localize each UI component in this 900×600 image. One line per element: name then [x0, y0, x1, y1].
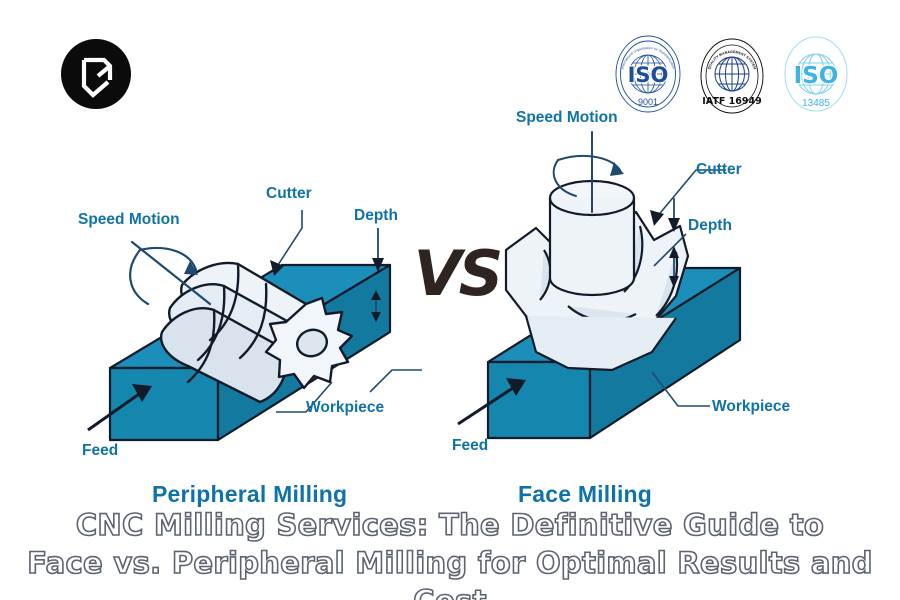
- caption-peripheral-milling: Peripheral Milling: [152, 481, 347, 508]
- caption-face-milling: Face Milling: [518, 481, 652, 508]
- diagram-peripheral-milling: Speed Motion Cutter Depth Workpiece: [70, 100, 450, 470]
- vs-separator: VS: [412, 238, 502, 310]
- label-speed-motion: Speed Motion: [516, 109, 618, 126]
- label-feed: Feed: [82, 442, 118, 459]
- label-workpiece: Workpiece: [712, 398, 790, 415]
- label-depth: Depth: [688, 217, 732, 234]
- diagram-face-milling: Speed Motion Cutter Depth Workpiece: [440, 100, 860, 470]
- page-title-line-2: Face vs. Peripheral Milling for Optimal …: [0, 544, 900, 600]
- label-depth: Depth: [354, 207, 398, 224]
- badge-iso-main-text: ISO: [628, 63, 669, 87]
- globe-icon: [715, 57, 749, 91]
- label-feed: Feed: [452, 437, 488, 454]
- page-title: CNC Milling Services: The Definitive Gui…: [0, 506, 900, 600]
- label-cutter: Cutter: [266, 185, 312, 202]
- infographic-canvas: ISO International Organization for Stand…: [0, 0, 900, 600]
- logo-circle-icon: [61, 39, 131, 109]
- label-cutter: Cutter: [696, 161, 742, 178]
- label-workpiece: Workpiece: [306, 399, 384, 416]
- page-title-line-1: CNC Milling Services: The Definitive Gui…: [0, 506, 900, 544]
- label-speed-motion: Speed Motion: [78, 211, 180, 228]
- badge-iso-main-text: ISO: [794, 63, 839, 89]
